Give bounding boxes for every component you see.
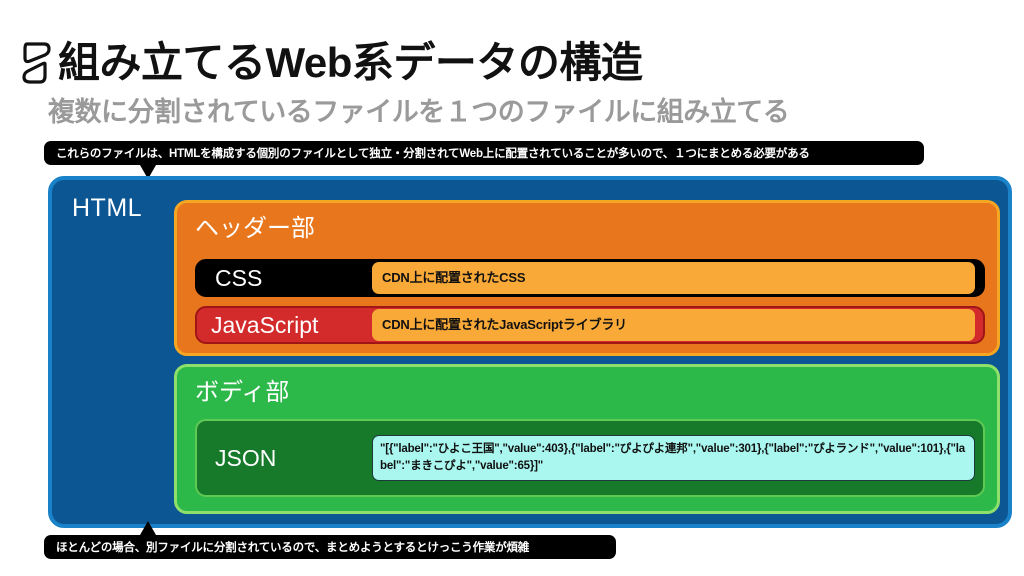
header-section-title: ヘッダー部 [195, 217, 315, 241]
double-parallelogram-logo-icon [18, 40, 54, 86]
javascript-row-label: JavaScript [197, 314, 372, 337]
callout-bottom-pointer-icon [140, 521, 156, 535]
json-row: JSON "[{"label":"ひよこ王国","value":403},{"l… [195, 419, 985, 497]
javascript-row-value: CDN上に配置されたJavaScriptライブラリ [372, 309, 975, 342]
body-section-title: ボディ部 [195, 381, 289, 405]
html-container: HTML ヘッダー部 CSS CDN上に配置されたCSS JavaScript … [48, 176, 1012, 528]
json-row-label: JSON [197, 447, 372, 470]
javascript-row: JavaScript CDN上に配置されたJavaScriptライブラリ [195, 306, 985, 344]
callout-bottom-text: ほとんどの場合、別ファイルに分割されているので、まとめようとするとけっこう作業が… [56, 539, 529, 555]
page-subtitle: 複数に分割されているファイルを１つのファイルに組み立てる [48, 98, 789, 128]
html-container-label: HTML [72, 194, 142, 223]
css-row-value: CDN上に配置されたCSS [372, 262, 975, 295]
callout-bottom: ほとんどの場合、別ファイルに分割されているので、まとめようとするとけっこう作業が… [44, 535, 616, 559]
header-section: ヘッダー部 CSS CDN上に配置されたCSS JavaScript CDN上に… [174, 200, 1000, 356]
json-row-value: "[{"label":"ひよこ王国","value":403},{"label"… [372, 435, 975, 482]
body-section: ボディ部 JSON "[{"label":"ひよこ王国","value":403… [174, 364, 1000, 514]
page-title-text: 組み立てるWeb系データの構造 [58, 42, 642, 84]
callout-top-text: これらのファイルは、HTMLを構成する個別のファイルとして独立・分割されてWeb… [56, 145, 810, 161]
css-row: CSS CDN上に配置されたCSS [195, 259, 985, 297]
callout-top: これらのファイルは、HTMLを構成する個別のファイルとして独立・分割されてWeb… [44, 141, 924, 165]
page-title: 組み立てるWeb系データの構造 [18, 40, 642, 86]
css-row-label: CSS [197, 267, 372, 290]
